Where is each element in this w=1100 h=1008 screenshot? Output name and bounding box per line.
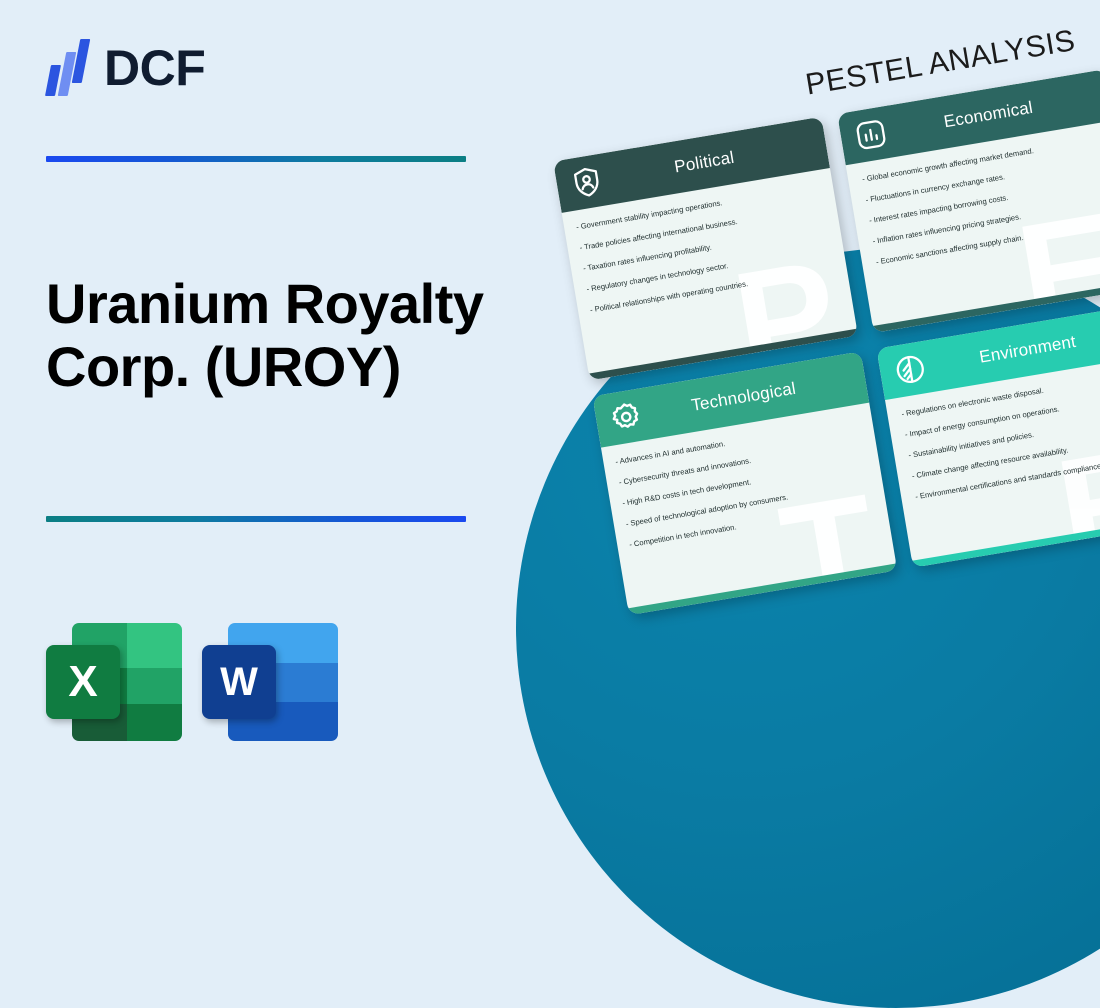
pestel-card-environment[interactable]: Environment E Regulations on electronic … [876,304,1100,568]
page-title-line-2: Corp. (UROY) [46,335,506,398]
download-format-icons: X W [46,623,338,741]
brand-name: DCF [104,43,205,93]
leaf-icon [891,350,930,389]
divider-bottom [46,516,466,522]
pestel-card-political[interactable]: Political P Government stability impacti… [553,117,858,381]
excel-badge-letter: X [46,645,120,719]
pestel-analysis-graphic: PESTEL ANALYSIS Political P Government s… [545,22,1100,667]
word-badge-letter: W [202,645,276,719]
dcf-bars-logo-icon [46,39,92,97]
divider-top [46,156,466,162]
brand-logo[interactable]: DCF [46,36,205,100]
word-file-icon[interactable]: W [202,623,338,741]
pestel-card-technological[interactable]: Technological T Advances in AI and autom… [592,351,897,615]
shield-person-icon [567,163,606,202]
bar-chart-icon [851,115,890,154]
left-info-panel: DCF Uranium Royalty Corp. (UROY) X W [0,0,520,805]
excel-file-icon[interactable]: X [46,623,182,741]
page-title-line-1: Uranium Royalty [46,272,506,335]
gear-icon [607,397,646,436]
pestel-card-economical[interactable]: Economical E Global economic growth affe… [837,69,1100,333]
page-title: Uranium Royalty Corp. (UROY) [46,272,506,399]
